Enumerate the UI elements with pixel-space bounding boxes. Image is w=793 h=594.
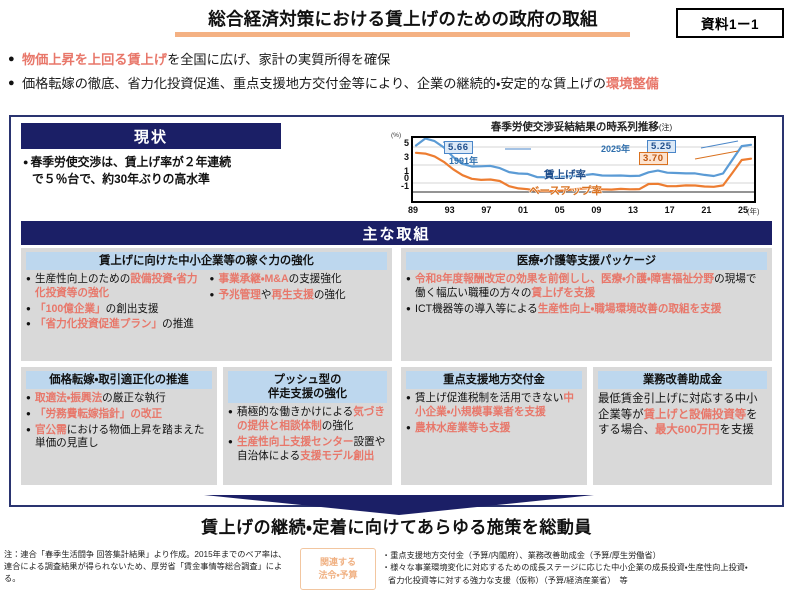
measure-item-smb-earning-power-L1-part-1: の創出支援 xyxy=(106,303,159,315)
lead-0-part-1: を全国に広げ、家計の実質所得を確保 xyxy=(167,52,390,67)
lead-0-part-0: 物価上昇を上回る賃上げ xyxy=(22,52,167,67)
measure-box-body-business-improvement-subsidy: 最低賃金引上げに対応する中小企業等が賃上げと設備投資等をする場合、最大600万円… xyxy=(598,392,767,438)
related-item-0: ・重点支援地方交付金（予算/内閣府）、業務改善助成金（予算/厚生労働省） xyxy=(382,550,792,562)
measure-box-body-push-type-support: ●積極的な働きかけによる気づきの提供と相談体制の強化●生産性向上支援センター設置… xyxy=(228,406,387,463)
current-status-heading: 現状 xyxy=(21,123,281,149)
measure-item-smb-earning-power-R1: ●予兆管理や再生支援の強化 xyxy=(210,289,388,303)
measure-box-price-passthrough: 価格転嫁・取引適正化の推進●取適法・振興法の厳正な執行●「労務費転嫁指針」の改正… xyxy=(21,367,217,485)
chart-title-note: (注) xyxy=(659,123,672,132)
measure-item-smb-earning-power-L1: ●「100億企業」の創出支援 xyxy=(26,303,204,317)
related-item-text-2: 省力化投資等に対する強力な支援（仮称）（予算/経済産業省） 等 xyxy=(388,575,792,587)
chart-series-label-wage-rate: 賃上げ率 xyxy=(544,167,586,182)
measure-box-title-medical-care-package: 医療・介護等支援パッケージ xyxy=(406,252,767,270)
measure-item-medical-care-package-0: ●令和8年度報酬改定の効果を前倒しし、医療・介護・障害福祉分野の現場で働く幅広い… xyxy=(406,273,767,301)
measure-item-push-type-support-1: ●生産性向上支援センター設置や自治体による支援モデル創出 xyxy=(228,436,387,464)
measure-item-push-type-support-1-text: 生産性向上支援センター設置や自治体による支援モデル創出 xyxy=(237,436,387,464)
bullet-dot-icon: ● xyxy=(228,406,237,418)
measure-item-smb-earning-power-L2-part-1: の推進 xyxy=(162,318,194,330)
measure-item-push-type-support-0-part-2: の強化 xyxy=(322,420,354,432)
measure-item-priority-local-grant-0-text: 賃上げ促進税制を活用できない中小企業・小規模事業者を支援 xyxy=(415,392,582,420)
measure-item-priority-local-grant-1-part-0: 農林水産業等も支援 xyxy=(415,422,510,434)
measure-item-medical-care-package-0-part-2: 賃上げを支援 xyxy=(532,287,596,299)
bullet-dot-icon: ● xyxy=(8,76,22,90)
measure-box-title-price-passthrough: 価格転嫁・取引適正化の推進 xyxy=(26,371,212,389)
measure-item-smb-earning-power-R1-part-3: の強化 xyxy=(314,289,346,301)
related-item-dot-icon: ・ xyxy=(382,562,390,574)
bullet-dot-icon: ● xyxy=(406,392,415,404)
bullet-dot-icon: ● xyxy=(26,424,35,436)
conclusion-banner: 賃上げの継続・定着に向けてあらゆる施策を総動員 xyxy=(9,495,784,547)
measure-item-push-type-support-0-text: 積極的な働きかけによる気づきの提供と相談体制の強化 xyxy=(237,406,387,434)
page-title: 総合経済対策における賃上げのための政府の取組 xyxy=(168,6,638,31)
related-laws-budget-line2: 法令・予算 xyxy=(318,569,357,583)
measure-col-left: ●生産性向上のための設備投資・省力化投資等の強化●「100億企業」の創出支援●「… xyxy=(26,273,204,334)
measure-item-smb-earning-power-R1-part-2: 再生支援 xyxy=(271,289,313,301)
bullet-dot-icon: ● xyxy=(26,303,35,315)
related-items-list: ・重点支援地方交付金（予算/内閣府）、業務改善助成金（予算/厚生労働省）・様々な… xyxy=(382,550,792,587)
related-item-2: 省力化投資等に対する強力な支援（仮称）（予算/経済産業省） 等 xyxy=(382,575,792,587)
measure-item-push-type-support-1-part-0: 生産性向上支援センター xyxy=(237,436,354,448)
measure-item-smb-earning-power-L0-text: 生産性向上のための設備投資・省力化投資等の強化 xyxy=(35,273,204,301)
related-item-dot-icon: ・ xyxy=(382,550,390,562)
measures-grid: 賃上げに向けた中小企業等の稼ぐ力の強化●生産性向上のための設備投資・省力化投資等… xyxy=(21,248,772,488)
measure-box-push-type-support: プッシュ型の伴走支援の強化●積極的な働きかけによる気づきの提供と相談体制の強化●… xyxy=(223,367,392,485)
main-measures-heading: 主な取組 xyxy=(21,221,772,245)
bullet-dot-icon: ● xyxy=(26,273,35,285)
chart-x-tick-1: 93 xyxy=(440,205,460,215)
lead-bullet-text-1: 価格転嫁の徹底、省力化投資促進、重点支援地方交付金等により、企業の継続的・安定的… xyxy=(22,76,659,93)
measure-box-body-priority-local-grant: ●賃上げ促進税制を活用できない中小企業・小規模事業者を支援●農林水産業等も支援 xyxy=(406,392,582,435)
measure-item-priority-local-grant-0: ●賃上げ促進税制を活用できない中小企業・小規模事業者を支援 xyxy=(406,392,582,420)
current-status-line2: で５％台で、約30年ぶりの高水準 xyxy=(23,172,210,186)
measure-item-priority-local-grant-0-part-0: 賃上げ促進税制を活用できない xyxy=(415,392,563,404)
measure-item-medical-care-package-1-text: ICT機器等の導入等による生産性向上・職場環境改善の取組を支援 xyxy=(415,303,767,317)
current-status-text: ●春季労使交渉は、賃上げ率が２年連続 で５％台で、約30年ぶりの高水準 xyxy=(23,154,303,188)
measure-item-medical-care-package-1-part-1: 生産性向上・職場環境改善の取組を支援 xyxy=(538,303,722,315)
measure-item-priority-local-grant-1-text: 農林水産業等も支援 xyxy=(415,422,582,436)
measure-item-price-passthrough-2: ●官公需における物価上昇を踏まえた単価の見直し xyxy=(26,424,212,452)
measure-box-title-line2: 伴走支援の強化 xyxy=(228,387,387,401)
measure-item-smb-earning-power-R0-part-0: 事業承継・M&A xyxy=(219,273,289,285)
measure-item-smb-earning-power-R0: ●事業承継・M&Aの支援強化 xyxy=(210,273,388,287)
chart-x-tick-8: 21 xyxy=(696,205,716,215)
chart-annotation-peak-blue: 5.66 xyxy=(444,141,473,154)
chart-annotation-latest-year: 2025年 xyxy=(601,142,630,155)
measure-box-business-improvement-subsidy: 業務改善助成金最低賃金引上げに対応する中小企業等が賃上げと設備投資等をする場合、… xyxy=(593,367,772,485)
measure-item-smb-earning-power-L0: ●生産性向上のための設備投資・省力化投資等の強化 xyxy=(26,273,204,301)
chart-x-tick-4: 05 xyxy=(550,205,570,215)
measure-box-body-medical-care-package: ●令和8年度報酬改定の効果を前倒しし、医療・介護・障害福祉分野の現場で働く幅広い… xyxy=(406,273,767,316)
chart-x-tick-7: 17 xyxy=(660,205,680,215)
current-status-line1: 春季労使交渉は、賃上げ率が２年連続 xyxy=(30,155,231,169)
measure-item-push-type-support-0-part-0: 積極的な働きかけによる xyxy=(237,406,353,418)
measure-para-business-improvement-subsidy-part-3: 最大600万円 xyxy=(655,424,720,436)
measure-item-price-passthrough-0-part-1: の厳正な執行 xyxy=(102,392,166,404)
measure-item-price-passthrough-2-text: 官公需における物価上昇を踏まえた単価の見直し xyxy=(35,424,212,452)
slide-page: 総合経済対策における賃上げのための政府の取組 資料1ー1 ●物価上昇を上回る賃上… xyxy=(0,0,793,594)
chart-x-tick-5: 09 xyxy=(586,205,606,215)
chart-x-tick-2: 97 xyxy=(476,205,496,215)
measure-item-medical-care-package-1: ●ICT機器等の導入等による生産性向上・職場環境改善の取組を支援 xyxy=(406,303,767,317)
bullet-dot-icon: ● xyxy=(210,273,219,285)
chart-footnote-line2: 連合による調査結果が得られないため、厚労省「賃金事情等総合調査」による。 xyxy=(4,561,294,585)
measure-box-body-price-passthrough: ●取適法・振興法の厳正な執行●「労務費転嫁指針」の改正●官公需における物価上昇を… xyxy=(26,392,212,451)
bullet-dot-icon: ● xyxy=(210,289,219,301)
conclusion-text: 賃上げの継続・定着に向けてあらゆる施策を総動員 xyxy=(9,513,784,538)
bullet-dot-icon: ● xyxy=(26,318,35,330)
measure-item-price-passthrough-1: ●「労務費転嫁指針」の改正 xyxy=(26,408,212,422)
chart-series-label-base-up: ベースアップ率 xyxy=(529,183,602,198)
measure-item-smb-earning-power-R1-part-0: 予兆管理 xyxy=(219,289,261,301)
measure-col-right: ●事業承継・M&Aの支援強化●予兆管理や再生支援の強化 xyxy=(210,273,388,334)
chart-x-tick-0: 89 xyxy=(403,205,423,215)
related-item-1: ・様々な事業環境変化に対応するための成長ステージに応じた中小企業の成長投資・生産… xyxy=(382,562,792,574)
related-item-text-0: 重点支援地方交付金（予算/内閣府）、業務改善助成金（予算/厚生労働省） xyxy=(390,550,792,562)
bullet-dot-icon: ● xyxy=(406,422,415,434)
bullet-dot-icon: ● xyxy=(406,273,415,285)
measure-para-business-improvement-subsidy-part-1: 賃上げと設備投資等 xyxy=(644,409,747,421)
measure-item-smb-earning-power-R1-part-1: や xyxy=(261,289,272,301)
page-header: 総合経済対策における賃上げのための政府の取組 資料1ー1 xyxy=(0,0,793,44)
measure-item-push-type-support-0: ●積極的な働きかけによる気づきの提供と相談体制の強化 xyxy=(228,406,387,434)
measure-item-push-type-support-1-part-2: 支援モデル創出 xyxy=(300,450,374,462)
measure-box-smb-earning-power: 賃上げに向けた中小企業等の稼ぐ力の強化●生産性向上のための設備投資・省力化投資等… xyxy=(21,248,392,361)
measure-item-smb-earning-power-L1-part-0: 「100億企業」 xyxy=(35,303,106,315)
bullet-dot-icon: ● xyxy=(26,392,35,404)
measure-item-price-passthrough-1-text: 「労務費転嫁指針」の改正 xyxy=(35,408,212,422)
measure-box-title-business-improvement-subsidy: 業務改善助成金 xyxy=(598,371,767,389)
chart-y-tick-0: 5 xyxy=(397,138,409,148)
measure-item-price-passthrough-0: ●取適法・振興法の厳正な執行 xyxy=(26,392,212,406)
measure-item-smb-earning-power-R0-part-1: の支援強化 xyxy=(289,273,342,285)
lead-bullet-1: ●価格転嫁の徹底、省力化投資促進、重点支援地方交付金等により、企業の継続的・安定… xyxy=(8,76,793,93)
document-number-badge: 資料1ー1 xyxy=(676,8,784,38)
current-status-band: 現状 ●春季労使交渉は、賃上げ率が２年連続 で５％台で、約30年ぶりの高水準 春… xyxy=(11,117,782,219)
measure-box-priority-local-grant: 重点支援地方交付金●賃上げ促進税制を活用できない中小企業・小規模事業者を支援●農… xyxy=(401,367,587,485)
down-arrow-icon xyxy=(204,495,594,515)
chart-footnote-line1: 注：連合「春季生活闘争 回答集計結果」より作成。2015年までのベア率は、 xyxy=(4,549,294,561)
chart-annotation-latest-orange: 3.70 xyxy=(639,152,668,165)
bullet-dot-icon: ● xyxy=(8,52,22,66)
chart-x-axis-unit: (年) xyxy=(747,206,760,217)
measure-item-price-passthrough-0-part-0: 取適法・振興法 xyxy=(35,392,102,404)
lead-bullet-text-0: 物価上昇を上回る賃上げを全国に広げ、家計の実質所得を確保 xyxy=(22,52,390,69)
chart-x-tick-6: 13 xyxy=(623,205,643,215)
measure-para-business-improvement-subsidy-part-4: を支援 xyxy=(720,424,754,436)
bullet-dot-icon: ● xyxy=(406,303,415,315)
measure-item-medical-care-package-0-part-0: 令和8年度報酬改定の効果を前倒しし、医療・介護・障害福祉分野 xyxy=(415,273,714,285)
measure-item-medical-care-package-1-part-0: ICT機器等の導入等による xyxy=(415,303,538,315)
measure-box-title-push-type-support: プッシュ型の伴走支援の強化 xyxy=(228,371,387,403)
related-laws-budget-line1: 関連する xyxy=(320,556,356,570)
lead-1-part-1: 環境整備 xyxy=(606,76,659,91)
measure-box-medical-care-package: 医療・介護等支援パッケージ●令和8年度報酬改定の効果を前倒しし、医療・介護・障害… xyxy=(401,248,772,361)
wage-negotiation-chart: 春季労使交渉妥結結果の時系列推移(注) (%) 5310-18993970105… xyxy=(389,119,774,223)
lead-bullet-0: ●物価上昇を上回る賃上げを全国に広げ、家計の実質所得を確保 xyxy=(8,52,793,69)
measure-item-priority-local-grant-1: ●農林水産業等も支援 xyxy=(406,422,582,436)
measure-box-title-priority-local-grant: 重点支援地方交付金 xyxy=(406,371,582,389)
measure-item-price-passthrough-0-text: 取適法・振興法の厳正な執行 xyxy=(35,392,212,406)
chart-title-text: 春季労使交渉妥結結果の時系列推移 xyxy=(491,121,659,133)
measure-item-price-passthrough-2-part-0: 官公需 xyxy=(35,424,67,436)
measure-box-title-line1: プッシュ型の xyxy=(228,373,387,387)
measure-item-smb-earning-power-R0-text: 事業承継・M&Aの支援強化 xyxy=(219,273,388,287)
chart-title: 春季労使交渉妥結結果の時系列推移(注) xyxy=(389,119,774,134)
measure-item-smb-earning-power-L0-part-0: 生産性向上のための xyxy=(35,273,130,285)
bullet-dot-icon: ● xyxy=(26,408,35,420)
measure-item-smb-earning-power-L2-part-0: 「省力化投資促進プラン」 xyxy=(35,318,162,330)
title-underline xyxy=(175,32,630,37)
chart-y-tick-1: 3 xyxy=(397,152,409,162)
bullet-dot-icon: ● xyxy=(228,436,237,448)
chart-annotation-peak-year: 1991年 xyxy=(449,154,478,167)
measure-item-medical-care-package-0-text: 令和8年度報酬改定の効果を前倒しし、医療・介護・障害福祉分野の現場で働く幅広い職… xyxy=(415,273,767,301)
measure-item-price-passthrough-1-part-0: 「労務費転嫁指針」の改正 xyxy=(35,408,162,420)
measure-box-body-smb-earning-power: ●生産性向上のための設備投資・省力化投資等の強化●「100億企業」の創出支援●「… xyxy=(26,273,387,334)
lead-bullet-list: ●物価上昇を上回る賃上げを全国に広げ、家計の実質所得を確保●価格転嫁の徹底、省力… xyxy=(8,52,793,99)
chart-x-tick-3: 01 xyxy=(513,205,533,215)
measure-item-smb-earning-power-L1-text: 「100億企業」の創出支援 xyxy=(35,303,204,317)
chart-y-tick-4: -1 xyxy=(397,181,409,191)
measure-box-title-smb-earning-power: 賃上げに向けた中小企業等の稼ぐ力の強化 xyxy=(26,252,387,270)
measure-item-smb-earning-power-R1-text: 予兆管理や再生支援の強化 xyxy=(219,289,388,303)
chart-footnote: 注：連合「春季生活闘争 回答集計結果」より作成。2015年までのベア率は、 連合… xyxy=(4,549,294,585)
main-content-panel: 現状 ●春季労使交渉は、賃上げ率が２年連続 で５％台で、約30年ぶりの高水準 春… xyxy=(9,115,784,507)
measure-item-smb-earning-power-L2-text: 「省力化投資促進プラン」の推進 xyxy=(35,318,204,332)
related-laws-budget-box: 関連する 法令・予算 xyxy=(300,548,376,590)
measure-item-smb-earning-power-L2: ●「省力化投資促進プラン」の推進 xyxy=(26,318,204,332)
related-item-text-1: 様々な事業環境変化に対応するための成長ステージに応じた中小企業の成長投資・生産性… xyxy=(390,562,792,574)
bullet-dot-icon: ● xyxy=(23,157,28,167)
lead-1-part-0: 価格転嫁の徹底、省力化投資促進、重点支援地方交付金等により、企業の継続的・安定的… xyxy=(22,76,606,91)
